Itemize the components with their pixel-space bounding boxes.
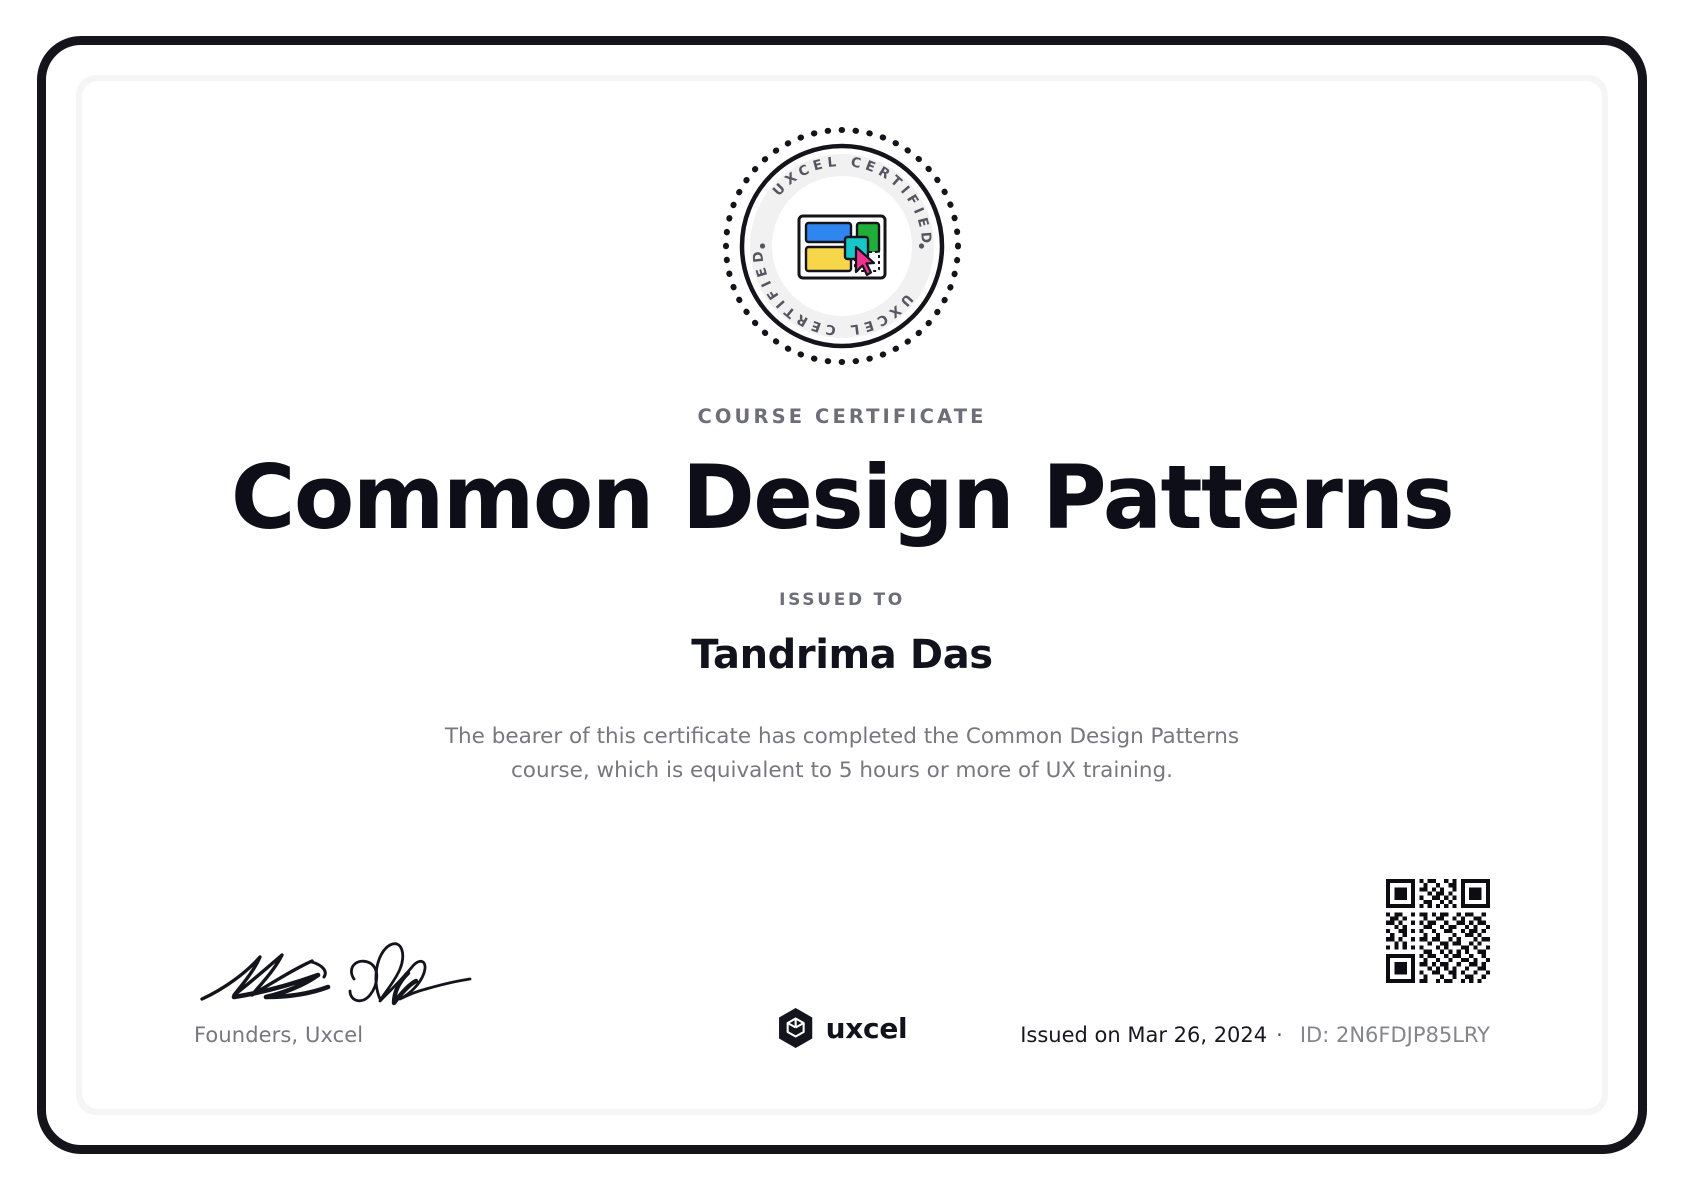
meta-separator: · (1276, 1023, 1283, 1047)
certificate-meta: Issued on Mar 26, 2024 · ID: 2N6FDJP85LR… (1020, 1023, 1490, 1047)
uxcel-hexagon-cube-logo (777, 1007, 815, 1049)
certificate-panel: UXCEL CERTIFIED UXCEL CERTIFIED (76, 75, 1608, 1115)
uxcel-wordmark: uxcel (826, 1012, 908, 1045)
recipient-name: Tandrima Das (691, 632, 992, 678)
description-line-1: The bearer of this certificate has compl… (445, 724, 1239, 749)
issued-on-date: Issued on Mar 26, 2024 (1020, 1023, 1267, 1047)
certificate-qr-code[interactable] (1386, 879, 1490, 983)
certificate-sheet: UXCEL CERTIFIED UXCEL CERTIFIED (82, 81, 1602, 1109)
certificate-footer: Founders, Uxcel uxcel (82, 879, 1602, 1109)
certificate-frame: UXCEL CERTIFIED UXCEL CERTIFIED (37, 36, 1647, 1154)
founders-signatures-image (194, 937, 494, 1011)
design-patterns-layout-icon (799, 216, 885, 278)
certificate-id: ID: 2N6FDJP85LRY (1300, 1023, 1490, 1047)
certificate-kicker: COURSE CERTIFICATE (697, 405, 986, 428)
signature-caption: Founders, Uxcel (194, 1023, 524, 1047)
uxcel-brand: uxcel (777, 1007, 908, 1049)
issued-to-label: ISSUED TO (779, 590, 905, 610)
description-line-2: course, which is equivalent to 5 hours o… (511, 758, 1173, 783)
uxcel-certified-seal: UXCEL CERTIFIED UXCEL CERTIFIED (719, 123, 965, 369)
signature-block: Founders, Uxcel (194, 937, 524, 1047)
certificate-description: The bearer of this certificate has compl… (445, 720, 1239, 790)
course-title: Common Design Patterns (231, 452, 1453, 544)
certificate-page: UXCEL CERTIFIED UXCEL CERTIFIED (0, 0, 1684, 1190)
